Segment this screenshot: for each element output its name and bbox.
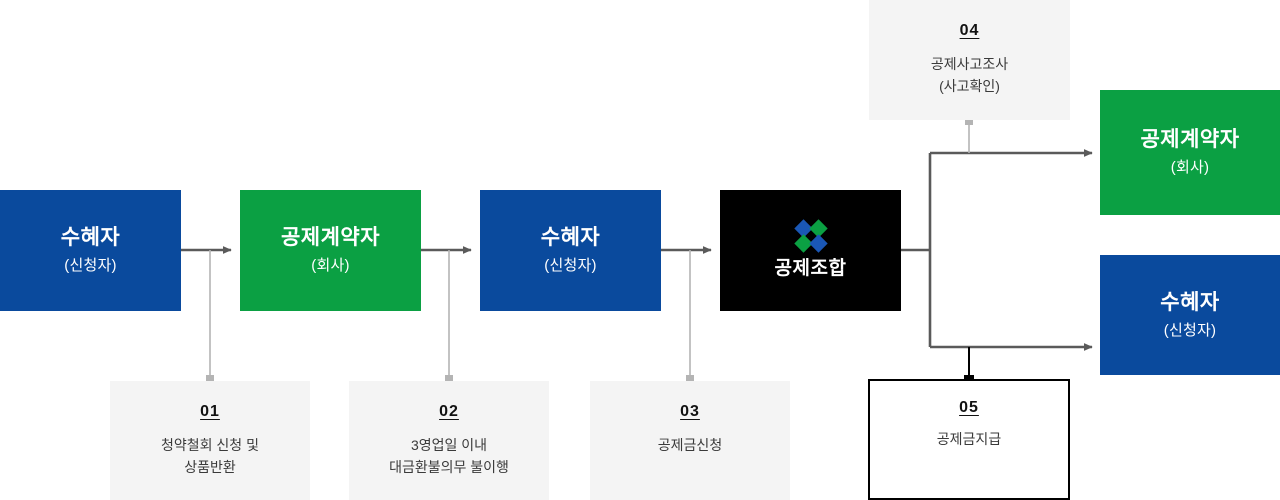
flow-split-bracket <box>900 153 1092 347</box>
step-number: 02 <box>439 403 459 421</box>
step-box-05[interactable]: 05 공제금지급 <box>868 379 1070 500</box>
step-number: 04 <box>960 22 980 40</box>
flowchart-diagram: 수혜자 (신청자) 공제계약자 (회사) 수혜자 (신청자) 공제조합 공제계약… <box>0 0 1280 500</box>
actor-beneficiary-2[interactable]: 수혜자 (신청자) <box>480 190 661 311</box>
actor-association[interactable]: 공제조합 <box>720 190 901 311</box>
actor-title: 공제계약자 <box>281 225 380 251</box>
actor-title: 공제조합 <box>775 257 847 281</box>
actor-subtitle: (회사) <box>1171 159 1209 178</box>
step-box-01[interactable]: 01 청약철회 신청 및 상품반환 <box>110 381 310 500</box>
step-text: 3영업일 이내 대금환불의무 불이행 <box>389 435 509 478</box>
actor-title: 공제계약자 <box>1140 127 1239 153</box>
actor-contractor-1[interactable]: 공제계약자 (회사) <box>240 190 421 311</box>
step-text: 공제금신청 <box>658 435 722 457</box>
actor-title: 수혜자 <box>61 225 120 251</box>
step-number: 03 <box>680 403 700 421</box>
step-text: 공제사고조사 (사고확인) <box>931 54 1008 97</box>
step-text: 청약철회 신청 및 상품반환 <box>161 435 259 478</box>
step-text: 공제금지급 <box>937 429 1001 451</box>
step-box-02[interactable]: 02 3영업일 이내 대금환불의무 불이행 <box>349 381 549 500</box>
actor-beneficiary-1[interactable]: 수혜자 (신청자) <box>0 190 181 311</box>
actor-subtitle: (신청자) <box>544 257 596 276</box>
step-number: 01 <box>200 403 220 421</box>
actor-title: 수혜자 <box>541 225 600 251</box>
step-box-04[interactable]: 04 공제사고조사 (사고확인) <box>869 0 1070 120</box>
actor-contractor-2[interactable]: 공제계약자 (회사) <box>1100 90 1280 215</box>
actor-subtitle: (신청자) <box>1164 322 1216 341</box>
actor-subtitle: (신청자) <box>64 257 116 276</box>
actor-beneficiary-3[interactable]: 수혜자 (신청자) <box>1100 255 1280 375</box>
actor-subtitle: (회사) <box>311 257 349 276</box>
step-box-03[interactable]: 03 공제금신청 <box>590 381 790 500</box>
actor-title: 수혜자 <box>1160 290 1219 316</box>
step-number: 05 <box>959 399 979 417</box>
mutual-aid-pinwheel-logo-icon <box>796 221 826 251</box>
